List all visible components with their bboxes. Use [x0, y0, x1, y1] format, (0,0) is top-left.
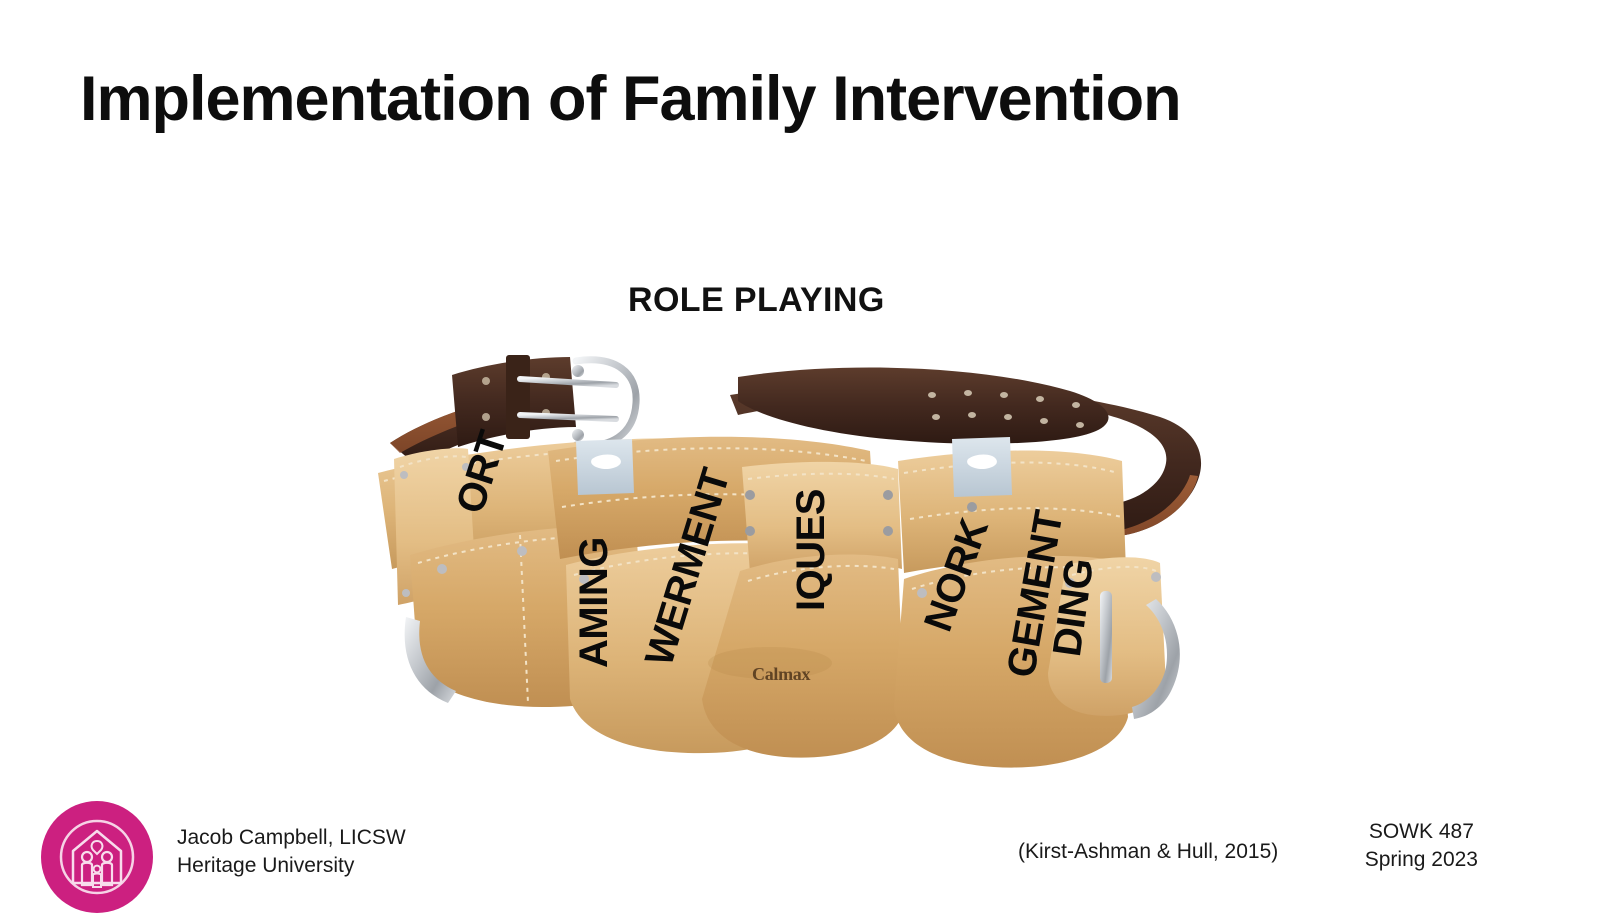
course-code: SOWK 487 — [1365, 818, 1478, 846]
tape-clip — [1100, 591, 1112, 683]
logo-head-child — [94, 866, 101, 873]
logo-body-child — [93, 874, 101, 888]
rivet — [745, 490, 755, 500]
logo-heart — [92, 841, 103, 854]
citation-text: (Kirst-Ashman & Hull, 2015) — [1018, 840, 1278, 864]
rivet — [1151, 572, 1161, 582]
rivet — [745, 526, 755, 536]
logo-house — [73, 831, 121, 883]
rivet — [883, 490, 893, 500]
logo-body-right — [102, 863, 112, 885]
rivet — [967, 502, 977, 512]
logo-head-right — [102, 852, 112, 862]
rivet — [517, 546, 527, 556]
logo-body-left — [82, 863, 92, 885]
page-title: Implementation of Family Intervention — [80, 66, 1181, 132]
house-family-icon — [41, 801, 153, 913]
presenter-org: Heritage University — [177, 852, 406, 880]
rivet — [400, 471, 408, 479]
course-block: SOWK 487 Spring 2023 — [1365, 818, 1478, 874]
keeper-loop — [506, 355, 530, 439]
rivet — [883, 526, 893, 536]
rotated-label: AMING — [572, 537, 617, 668]
section-heading: ROLE PLAYING — [628, 281, 885, 320]
brand-logo-text: Calmax — [752, 664, 810, 685]
belt-tongue — [738, 368, 1109, 444]
logo-head-left — [82, 852, 92, 862]
presenter-name: Jacob Campbell, LICSW — [177, 824, 406, 852]
course-term: Spring 2023 — [1365, 846, 1478, 874]
institution-logo — [41, 801, 153, 913]
rotated-label: IQUES — [789, 489, 834, 611]
belt-buckle — [576, 360, 636, 446]
buckle-pin-bottom — [572, 429, 584, 441]
rivet — [402, 589, 410, 597]
presenter-block: Jacob Campbell, LICSW Heritage Universit… — [177, 824, 406, 880]
rivet — [437, 564, 447, 574]
buckle-pin-top — [572, 365, 584, 377]
slide-canvas: Implementation of Family Intervention RO… — [0, 0, 1600, 900]
